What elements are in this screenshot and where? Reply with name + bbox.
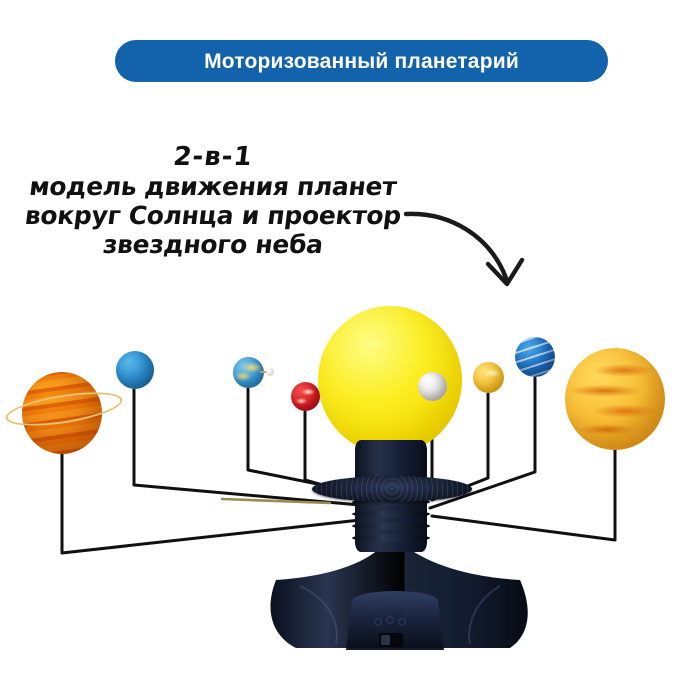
planetarium-product xyxy=(0,0,700,700)
power-switch-knob[interactable] xyxy=(381,635,390,645)
motor-ring-4 xyxy=(352,534,430,542)
product-base xyxy=(0,0,700,700)
motor-ring-2 xyxy=(352,510,430,518)
product-image-canvas: Моторизованный планетарий 2-в-1 модель д… xyxy=(0,0,700,700)
motor-ring-3 xyxy=(352,522,430,530)
perforated-gear-disc xyxy=(312,476,472,502)
